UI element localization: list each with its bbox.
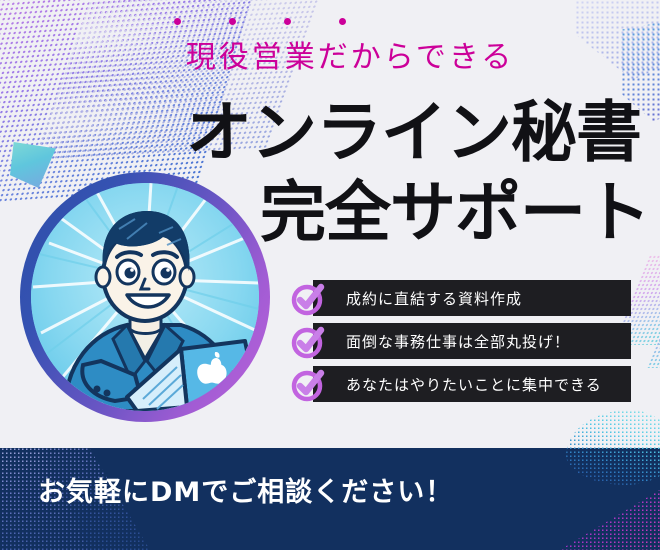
person-with-laptop-illustration-icon [31, 183, 259, 411]
feature-item-3: あなたはやりたいことに集中できる [291, 366, 631, 402]
feature-label: 面倒な事務仕事は全部丸投げ！ [313, 331, 570, 352]
headline-line-1: オンライン秘書 [186, 100, 641, 166]
check-circle-icon [291, 324, 327, 360]
feature-bar: あなたはやりたいことに集中できる [313, 366, 631, 402]
feature-list: 成約に直結する資料作成 面倒な事務仕事は全部丸投げ！ あなたはやりたいことに集中… [291, 280, 631, 409]
cta-text: お気軽にDMでご相談ください！ [38, 470, 453, 509]
subtitle-block: 現役営業だからできる [150, 18, 550, 76]
emphasis-dot [284, 18, 291, 25]
emphasis-dot [229, 18, 236, 25]
teal-triangle-decoration [10, 142, 56, 188]
emphasis-dot-row [150, 18, 550, 30]
subtitle-text: 現役営業だからできる [150, 32, 550, 76]
emphasis-dot [339, 18, 346, 25]
check-circle-icon [291, 367, 327, 403]
portrait-image-frame [31, 183, 259, 411]
feature-item-1: 成約に直結する資料作成 [291, 280, 631, 316]
feature-bar: 成約に直結する資料作成 [313, 280, 631, 316]
feature-bar: 面倒な事務仕事は全部丸投げ！ [313, 323, 631, 359]
feature-label: 成約に直結する資料作成 [313, 288, 522, 309]
feature-item-2: 面倒な事務仕事は全部丸投げ！ [291, 323, 631, 359]
emphasis-dot [174, 18, 181, 25]
halftone-parallelogram-right-b-decoration [647, 282, 660, 368]
headline-line-2: 完全サポート [260, 180, 650, 246]
promo-banner: 現役営業だからできる オンライン秘書 完全サポート [0, 0, 660, 550]
portrait-avatar [20, 172, 270, 422]
halftone-cube-top-right-decoration [575, 0, 660, 80]
check-circle-icon [291, 281, 327, 317]
feature-label: あなたはやりたいことに集中できる [313, 374, 602, 395]
